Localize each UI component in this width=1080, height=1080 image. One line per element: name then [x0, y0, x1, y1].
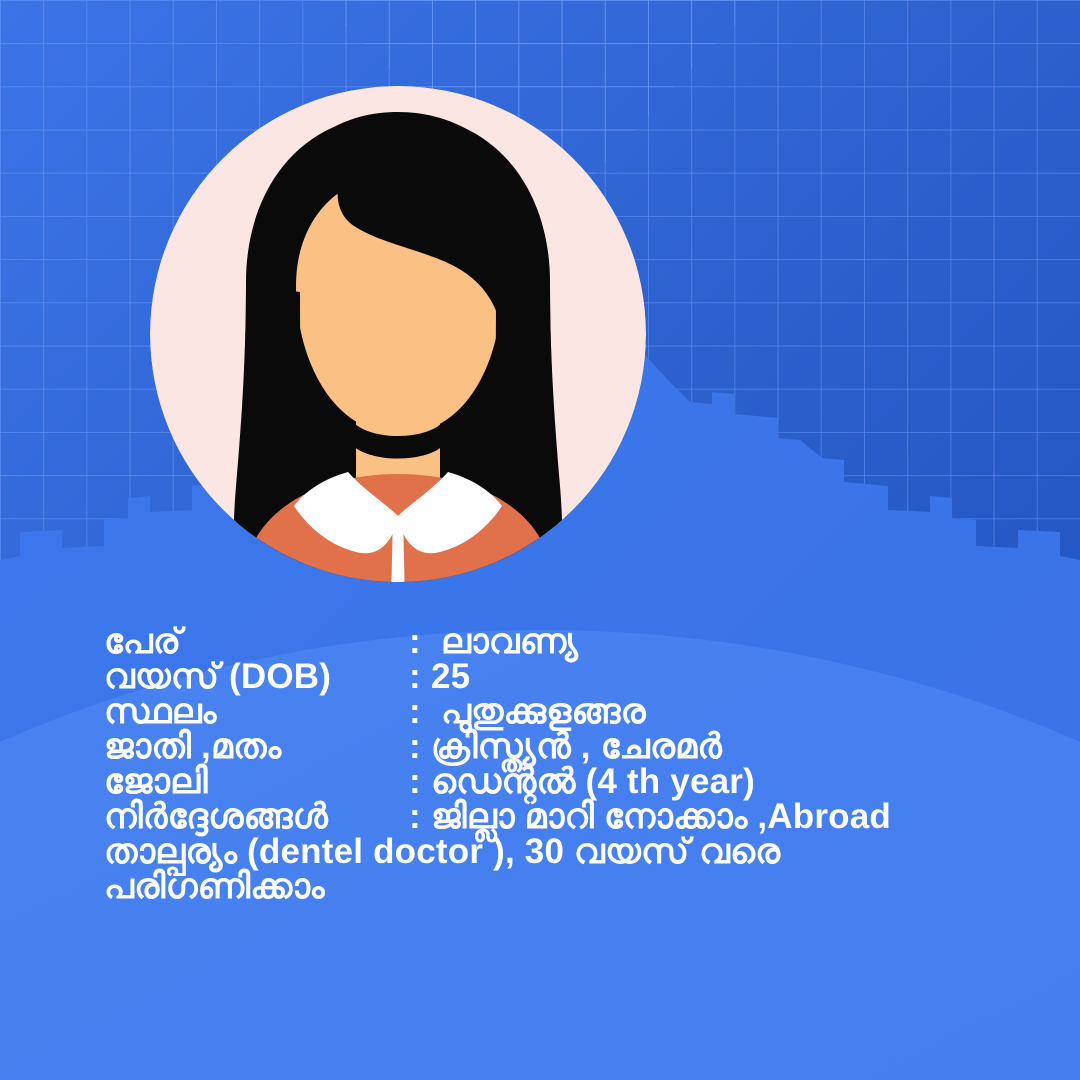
detail-label-place: സ്ഥലം — [104, 694, 409, 729]
detail-label-name: പേര് — [104, 624, 409, 659]
detail-row-age: വയസ് (DOB) : 25 — [0, 659, 1080, 694]
detail-label-age: വയസ് (DOB) — [104, 659, 409, 694]
detail-label-job: ജോലി — [104, 764, 409, 799]
detail-label-caste-religion: ജാതി ,മതം — [104, 729, 409, 764]
detail-separator: : — [409, 764, 431, 799]
preferences-continuation-text: പരിഗണിക്കാം — [104, 869, 1080, 904]
detail-label-preferences: നിർദ്ദേശങ്ങൾ — [104, 799, 409, 834]
detail-row-place: സ്ഥലം : പുതുക്കുളങ്ങര — [0, 694, 1080, 729]
detail-value-age: 25 — [431, 659, 1080, 694]
details-block: പേര് : ലാവണ്യ വയസ് (DOB) : 25 സ്ഥലം : പു… — [0, 624, 1080, 904]
detail-separator: : — [409, 624, 431, 659]
profile-card: പേര് : ലാവണ്യ വയസ് (DOB) : 25 സ്ഥലം : പു… — [0, 0, 1080, 1080]
detail-row-name: പേര് : ലാവണ്യ — [0, 624, 1080, 659]
detail-value-name: ലാവണ്യ — [431, 624, 1080, 659]
detail-value-place: പുതുക്കുളങ്ങര — [431, 694, 1080, 729]
detail-row-job: ജോലി : ഡെന്റൽ (4 th year) — [0, 764, 1080, 799]
detail-row-caste-religion: ജാതി ,മതം : ക്രിസ്ത്യൻ , ചേരമർ — [0, 729, 1080, 764]
detail-row-preferences: നിർദ്ദേശങ്ങൾ : ജില്ലാ മാറി നോക്കാം ,Abro… — [0, 799, 1080, 834]
preferences-continuation-text: താല്പര്യം (dentel doctor ), 30 വയസ് വരെ — [104, 834, 1080, 869]
detail-separator: : — [409, 799, 431, 834]
detail-value-job: ഡെന്റൽ (4 th year) — [431, 764, 1080, 799]
detail-value-caste-religion: ക്രിസ്ത്യൻ , ചേരമർ — [431, 729, 1080, 764]
preferences-continuation-line-2: പരിഗണിക്കാം — [0, 869, 1080, 904]
detail-separator: : — [409, 659, 431, 694]
detail-separator: : — [409, 694, 431, 729]
avatar — [150, 86, 646, 582]
detail-separator: : — [409, 729, 431, 764]
detail-value-preferences: ജില്ലാ മാറി നോക്കാം ,Abroad — [431, 799, 1080, 834]
preferences-continuation-line-1: താല്പര്യം (dentel doctor ), 30 വയസ് വരെ — [0, 834, 1080, 869]
